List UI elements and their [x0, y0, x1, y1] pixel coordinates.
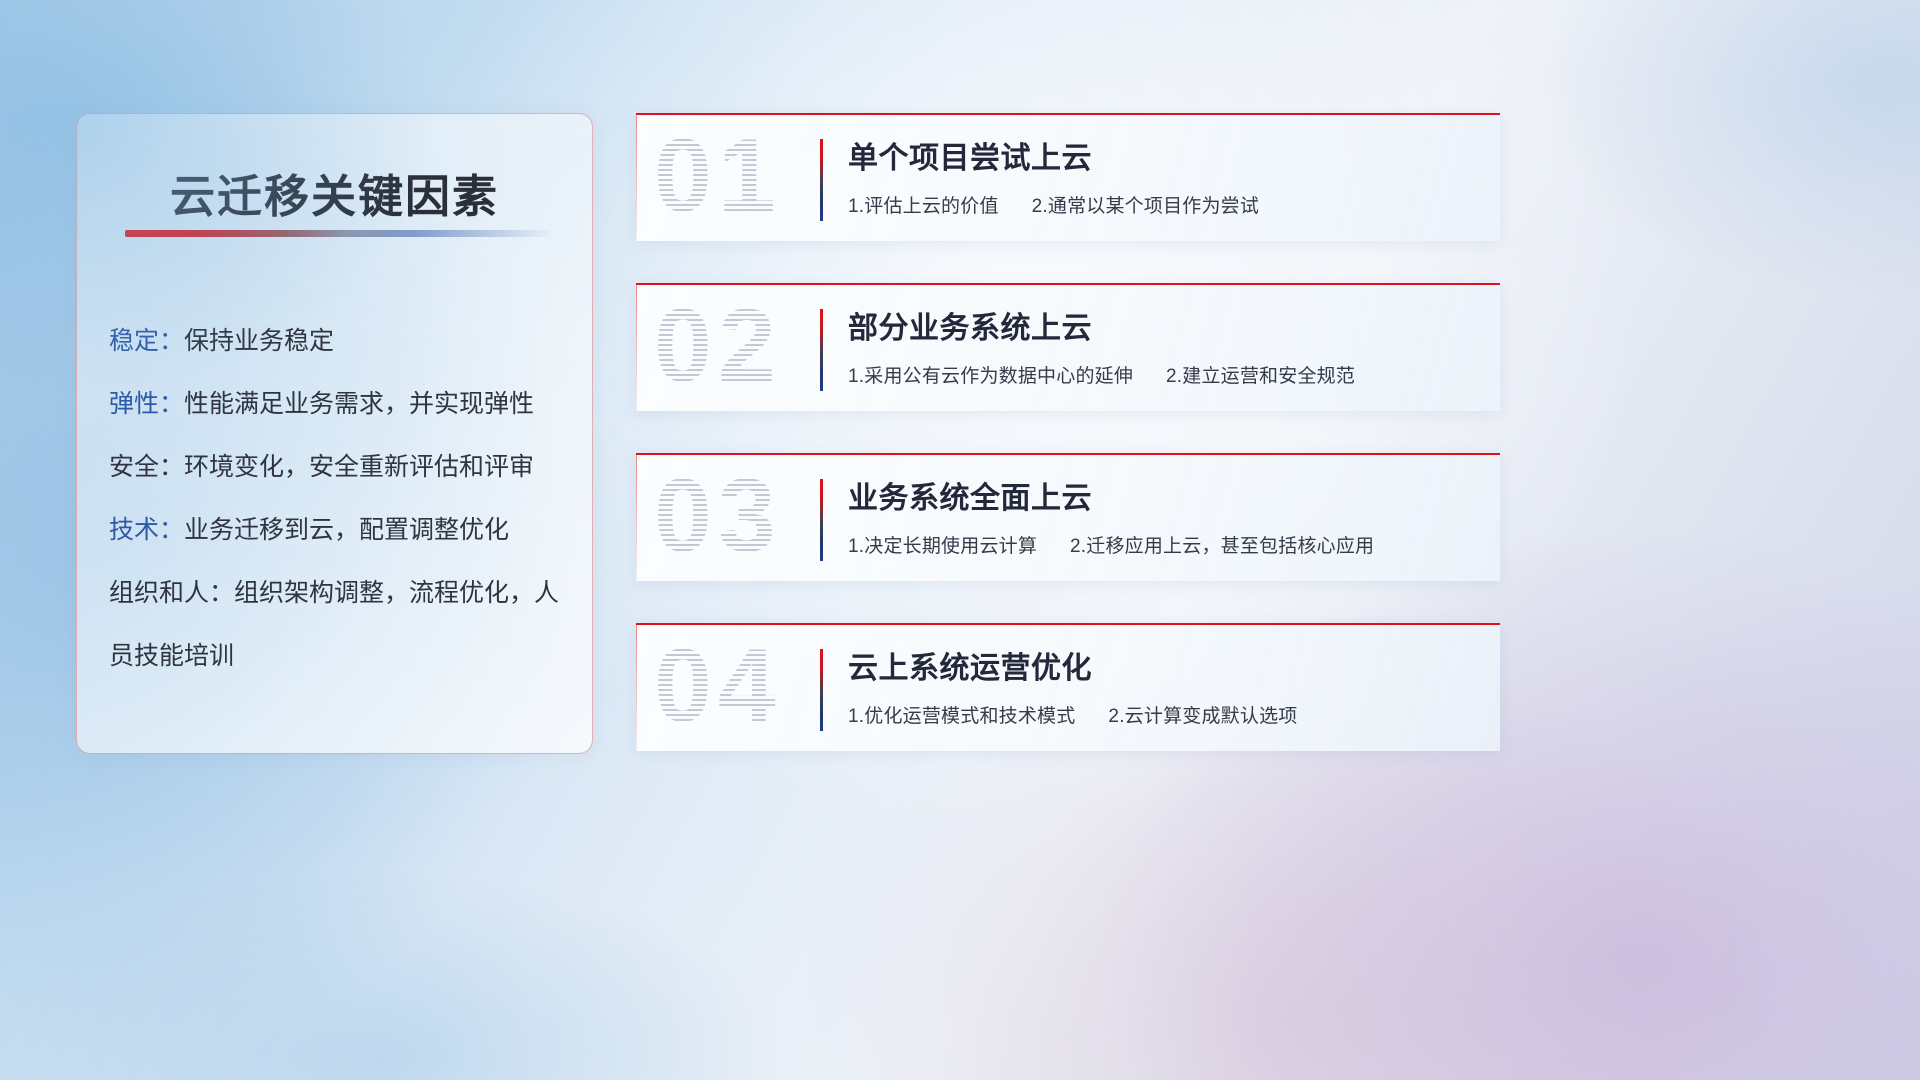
step-content: 单个项目尝试上云 1.评估上云的价值 2.通常以某个项目作为尝试 [848, 133, 1482, 218]
list-item: 弹性：性能满足业务需求，并实现弹性 [109, 373, 579, 436]
step-description-part-1: 1.采用公有云作为数据中心的延伸 [848, 366, 1133, 387]
list-item[interactable]: 01 单个项目尝试上云 1.评估上云的价值 2.通常以某个项目作为尝试 [636, 113, 1500, 241]
step-content: 部分业务系统上云 1.采用公有云作为数据中心的延伸 2.建立运营和安全规范 [848, 303, 1482, 388]
step-content: 云上系统运营优化 1.优化运营模式和技术模式 2.云计算变成默认选项 [848, 643, 1482, 728]
factor-label: 稳定： [109, 327, 184, 355]
step-description: 1.决定长期使用云计算 2.迁移应用上云，甚至包括核心应用 [848, 531, 1482, 558]
factor-label: 技术： [109, 516, 184, 544]
step-title: 单个项目尝试上云 [848, 133, 1482, 177]
factor-text: 业务迁移到云，配置调整优化 [184, 516, 509, 544]
step-divider-bar [820, 649, 823, 731]
step-divider-bar [820, 479, 823, 561]
list-item: 组织和人：组织架构调整，流程优化，人员技能培训 [109, 562, 579, 688]
list-item: 安全：环境变化，安全重新评估和评审 [109, 436, 579, 499]
step-description-part-2: 2.通常以某个项目作为尝试 [1032, 196, 1259, 217]
factor-text: 环境变化，安全重新评估和评审 [184, 453, 534, 481]
list-item[interactable]: 03 业务系统全面上云 1.决定长期使用云计算 2.迁移应用上云，甚至包括核心应… [636, 453, 1500, 581]
step-description-part-2: 2.云计算变成默认选项 [1108, 706, 1297, 727]
step-description-part-2: 2.建立运营和安全规范 [1166, 366, 1355, 387]
step-title: 业务系统全面上云 [848, 473, 1482, 517]
step-description-part-1: 1.决定长期使用云计算 [848, 536, 1037, 557]
step-description: 1.优化运营模式和技术模式 2.云计算变成默认选项 [848, 701, 1482, 728]
step-content: 业务系统全面上云 1.决定长期使用云计算 2.迁移应用上云，甚至包括核心应用 [848, 473, 1482, 558]
step-description-part-1: 1.评估上云的价值 [848, 196, 999, 217]
factor-label: 安全： [109, 453, 184, 481]
step-divider-bar [820, 139, 823, 221]
step-description: 1.采用公有云作为数据中心的延伸 2.建立运营和安全规范 [848, 361, 1482, 388]
migration-steps-list: 01 单个项目尝试上云 1.评估上云的价值 2.通常以某个项目作为尝试 02 部… [636, 113, 1500, 793]
step-description: 1.评估上云的价值 2.通常以某个项目作为尝试 [848, 191, 1482, 218]
key-factors-panel: 云迁移关键因素 稳定：保持业务稳定 弹性：性能满足业务需求，并实现弹性 安全：环… [76, 113, 593, 754]
slide-canvas: 云迁移关键因素 稳定：保持业务稳定 弹性：性能满足业务需求，并实现弹性 安全：环… [0, 0, 1920, 1080]
step-description-part-2: 2.迁移应用上云，甚至包括核心应用 [1070, 536, 1374, 557]
list-item: 稳定：保持业务稳定 [109, 310, 579, 373]
factor-label: 组织和人： [109, 579, 234, 607]
step-title: 部分业务系统上云 [848, 303, 1482, 347]
list-item: 技术：业务迁移到云，配置调整优化 [109, 499, 579, 562]
step-divider-bar [820, 309, 823, 391]
step-description-part-1: 1.优化运营模式和技术模式 [848, 706, 1075, 727]
page-title: 云迁移关键因素 [77, 160, 592, 225]
factor-text: 性能满足业务需求，并实现弹性 [184, 390, 534, 418]
title-underline-bar [125, 230, 550, 237]
step-title: 云上系统运营优化 [848, 643, 1482, 687]
factor-text: 保持业务稳定 [184, 327, 334, 355]
key-factors-list: 稳定：保持业务稳定 弹性：性能满足业务需求，并实现弹性 安全：环境变化，安全重新… [109, 310, 579, 688]
list-item[interactable]: 04 云上系统运营优化 1.优化运营模式和技术模式 2.云计算变成默认选项 [636, 623, 1500, 751]
list-item[interactable]: 02 部分业务系统上云 1.采用公有云作为数据中心的延伸 2.建立运营和安全规范 [636, 283, 1500, 411]
factor-label: 弹性： [109, 390, 184, 418]
